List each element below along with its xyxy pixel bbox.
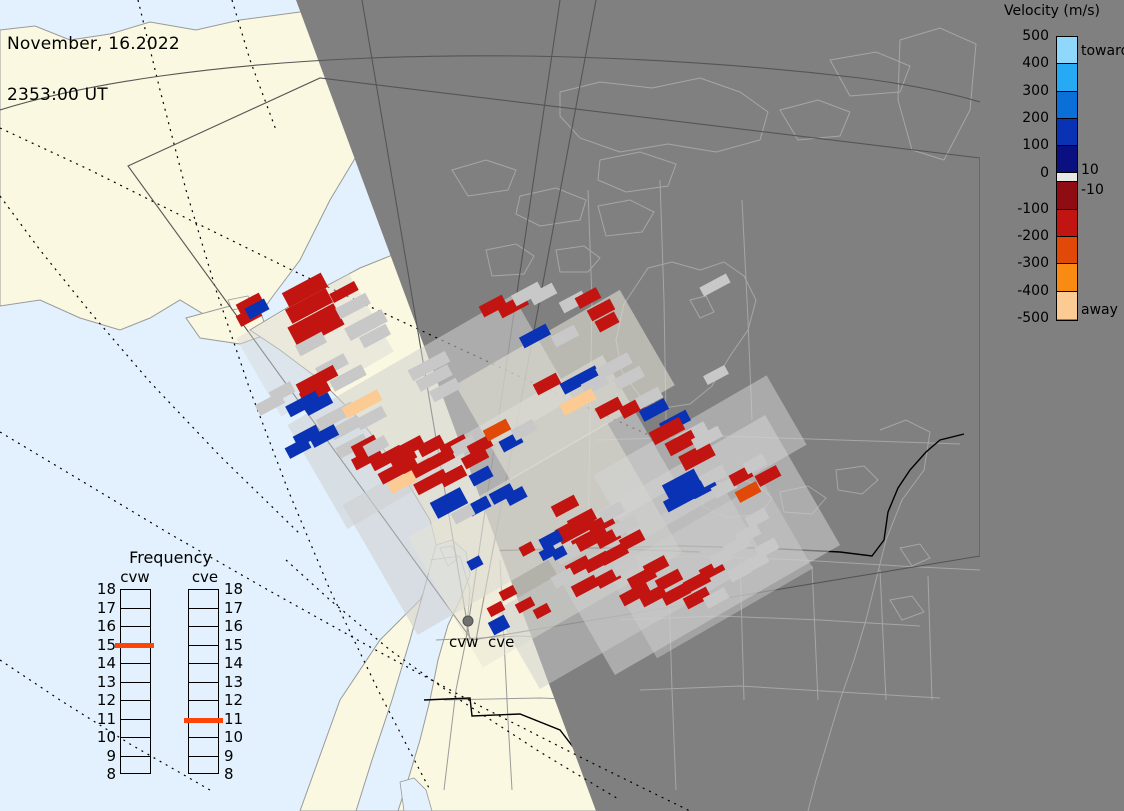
colorbar-segment: [1057, 119, 1077, 146]
frequency-cell: [189, 683, 218, 702]
time-label: 2353:00 UT: [7, 87, 180, 104]
colorbar-tick: 100: [1022, 138, 1049, 152]
colorbar-segment: [1057, 146, 1077, 173]
superdarn-velocity-map: November, 16.2022 2353:00 UT cvw cve Fre…: [0, 0, 1124, 811]
frequency-cell: [121, 701, 150, 720]
frequency-cell: [189, 701, 218, 720]
colorbar-segment: [1057, 210, 1077, 237]
frequency-tick-label: 14: [92, 656, 116, 671]
colorbar-tick: 400: [1022, 56, 1049, 70]
frequency-tick-label: 9: [92, 749, 116, 764]
frequency-bar-cve: [188, 589, 219, 774]
colorbar-tick: 500: [1022, 29, 1049, 43]
colorbar-tick: -100: [1017, 202, 1049, 216]
colorbar-tick: 300: [1022, 84, 1049, 98]
frequency-cell: [121, 683, 150, 702]
colorbar-lower-threshold-label: -10: [1081, 183, 1104, 197]
frequency-cell: [121, 609, 150, 628]
radar-site-marker[interactable]: [463, 616, 473, 626]
frequency-cell: [121, 664, 150, 683]
colorbar-toward-label: toward: [1081, 44, 1124, 58]
timestamp-block: November, 16.2022 2353:00 UT: [7, 2, 180, 138]
frequency-cell: [189, 627, 218, 646]
frequency-tick-label: 10: [92, 730, 116, 745]
frequency-cell: [121, 646, 150, 665]
colorbar-upper-threshold-label: 10: [1081, 163, 1099, 177]
colorbar-tick: -200: [1017, 229, 1049, 243]
map-site-label-cvw: cvw: [449, 633, 478, 651]
colorbar-segment: [1057, 264, 1077, 291]
frequency-tick-label: 11: [224, 712, 248, 727]
frequency-cell: [121, 720, 150, 739]
colorbar-segment: [1057, 64, 1077, 91]
colorbar-segment: [1057, 182, 1077, 209]
map-site-label-cve: cve: [488, 633, 514, 651]
frequency-cell: [189, 664, 218, 683]
colorbar-tick: -500: [1017, 311, 1049, 325]
frequency-cell: [121, 757, 150, 776]
frequency-tick-label: 17: [92, 601, 116, 616]
frequency-legend: Frequency cvw 18171615141312111098 cve 1…: [88, 548, 253, 788]
frequency-tick-label: 8: [92, 767, 116, 782]
colorbar-segment: [1057, 37, 1077, 64]
frequency-cell: [189, 757, 218, 776]
frequency-tick-label: 14: [224, 656, 248, 671]
colorbar-segment: [1057, 92, 1077, 119]
frequency-header-cvw: cvw: [110, 568, 160, 586]
frequency-cell: [189, 646, 218, 665]
frequency-marker-cvw: [115, 643, 154, 648]
frequency-tick-label: 13: [224, 675, 248, 690]
colorbar-tick: -300: [1017, 256, 1049, 270]
frequency-tick-label: 13: [92, 675, 116, 690]
frequency-header-cve: cve: [180, 568, 230, 586]
colorbar-title: Velocity (m/s): [980, 3, 1124, 19]
frequency-tick-label: 8: [224, 767, 248, 782]
frequency-tick-label: 11: [92, 712, 116, 727]
colorbar-segment: [1057, 292, 1077, 319]
frequency-tick-label: 12: [92, 693, 116, 708]
colorbar-away-label: away: [1081, 303, 1118, 317]
frequency-cell: [189, 738, 218, 757]
map-canvas[interactable]: November, 16.2022 2353:00 UT cvw cve Fre…: [0, 0, 980, 811]
date-label: November, 16.2022: [7, 36, 180, 53]
frequency-tick-label: 17: [224, 601, 248, 616]
frequency-tick-label: 18: [92, 582, 116, 597]
frequency-tick-label: 18: [224, 582, 248, 597]
frequency-cell: [189, 590, 218, 609]
colorbar-tick: 0: [1040, 166, 1049, 180]
frequency-tick-label: 15: [92, 638, 116, 653]
frequency-tick-label: 16: [224, 619, 248, 634]
frequency-bar-cvw: [120, 589, 151, 774]
colorbar-gradient[interactable]: [1056, 36, 1078, 321]
frequency-cell: [189, 609, 218, 628]
frequency-tick-label: 15: [224, 638, 248, 653]
frequency-cell: [121, 738, 150, 757]
frequency-title: Frequency: [88, 548, 253, 567]
colorbar-segment: [1057, 173, 1077, 182]
frequency-tick-label: 16: [92, 619, 116, 634]
frequency-tick-label: 12: [224, 693, 248, 708]
colorbar-tick: -400: [1017, 284, 1049, 298]
frequency-marker-cve: [184, 718, 223, 723]
frequency-cell: [121, 590, 150, 609]
frequency-tick-label: 10: [224, 730, 248, 745]
frequency-tick-label: 9: [224, 749, 248, 764]
colorbar-segment: [1057, 237, 1077, 264]
velocity-colorbar-panel: Velocity (m/s) 5004003002001000-100-200-…: [980, 0, 1124, 811]
colorbar-tick: 200: [1022, 111, 1049, 125]
